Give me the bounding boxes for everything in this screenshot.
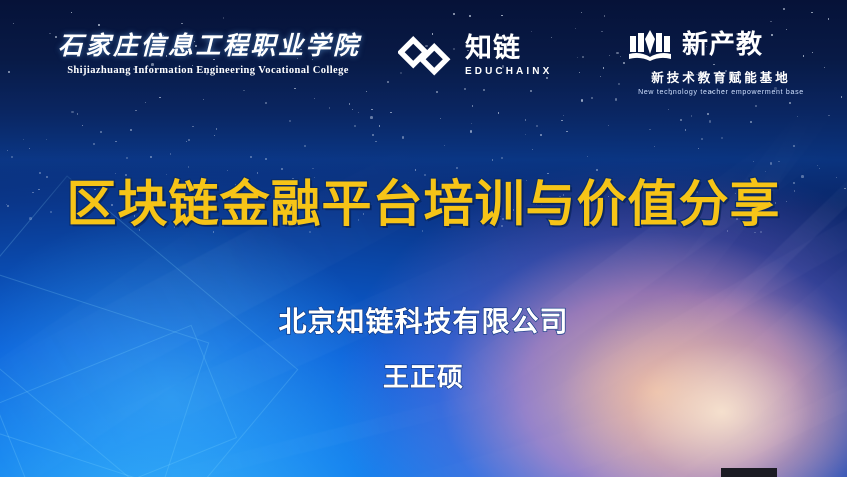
- educhainx-wordmark: 知链 EDUCHAINX: [465, 35, 552, 77]
- college-logo: 石家庄信息工程职业学院 Shijiazhuang Information Eng…: [58, 34, 358, 76]
- xinchanjiao-tagline-cn: 新技术教育赋能基地: [628, 67, 814, 86]
- bottom-edge-bar: [721, 468, 777, 477]
- header: 石家庄信息工程职业学院 Shijiazhuang Information Eng…: [0, 0, 847, 100]
- xinchanjiao-name-cn: 新产教: [682, 32, 763, 58]
- speaker-name: 王正硕: [0, 357, 847, 394]
- college-name-cn: 石家庄信息工程职业学院: [58, 34, 358, 59]
- xinchanjiao-tagline-en: New technology teacher empowerment base: [628, 89, 814, 96]
- educhainx-name-cn: 知链: [465, 35, 552, 62]
- educhainx-logo: 知链 EDUCHAINX: [398, 35, 552, 77]
- presentation-slide: 石家庄信息工程职业学院 Shijiazhuang Information Eng…: [0, 0, 847, 477]
- slide-title: 区块链金融平台培训与价值分享: [0, 164, 847, 236]
- open-book-emblem-icon: [628, 28, 672, 62]
- interlocking-chain-link-icon: [398, 35, 456, 77]
- organization-name: 北京知链科技有限公司: [0, 300, 847, 340]
- xinchanjiao-primary-row: 新产教: [628, 28, 814, 62]
- educhainx-name-en: EDUCHAINX: [465, 67, 552, 77]
- xinchanjiao-logo: 新产教 新技术教育赋能基地 New technology teacher emp…: [628, 28, 814, 96]
- college-name-en: Shijiazhuang Information Engineering Voc…: [58, 65, 358, 76]
